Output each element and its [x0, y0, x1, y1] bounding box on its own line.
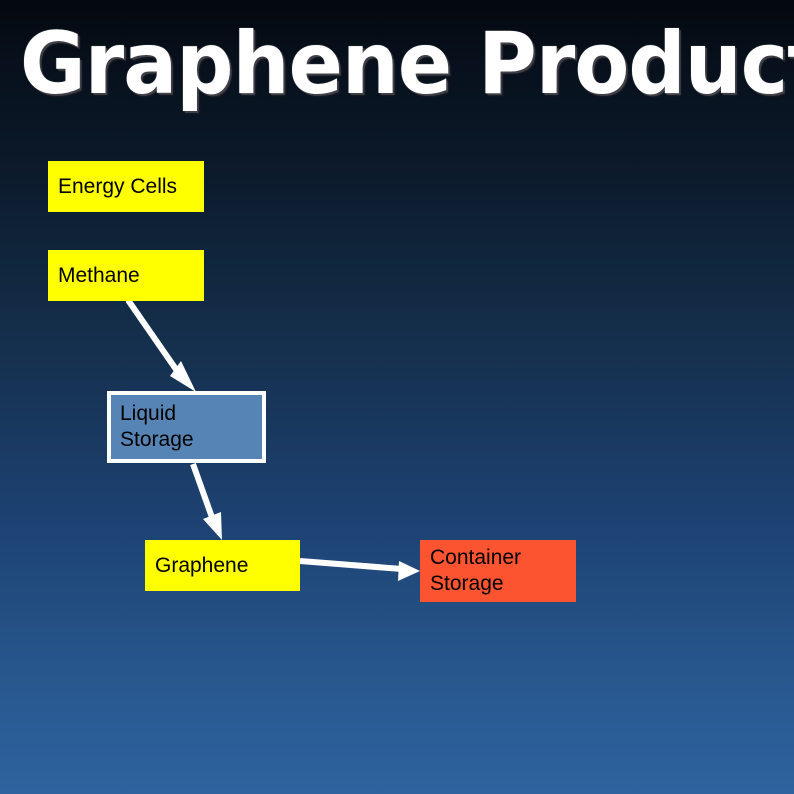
node-label: Methane — [58, 263, 204, 289]
slide-canvas: Graphene Production Energy Cells Methane… — [0, 0, 794, 794]
node-label: Container Storage — [430, 545, 576, 597]
node-label: Liquid Storage — [120, 401, 262, 453]
node-container-storage[interactable]: Container Storage — [420, 540, 576, 602]
node-methane[interactable]: Methane — [48, 250, 204, 301]
node-label: Energy Cells — [58, 174, 204, 200]
node-energy-cells[interactable]: Energy Cells — [48, 161, 204, 212]
node-liquid-storage[interactable]: Liquid Storage — [107, 391, 266, 463]
node-label: Graphene — [155, 553, 300, 579]
connector-methane-to-liquid-storage — [128, 300, 196, 392]
page-title: Graphene Production — [20, 16, 721, 112]
connector-graphene-to-container-storage — [300, 561, 420, 581]
node-graphene[interactable]: Graphene — [145, 540, 300, 591]
connector-liquid-storage-to-graphene — [193, 464, 222, 540]
